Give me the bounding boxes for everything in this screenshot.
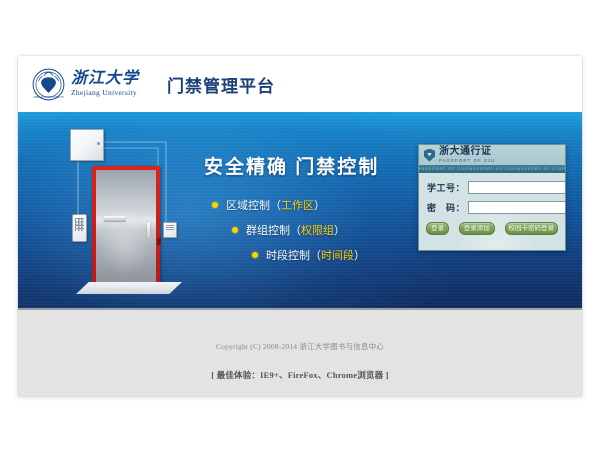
feature-item-area-control: 区域控制（工作区） bbox=[212, 197, 424, 213]
site-container: ZHEJIANG UNIVERSITY 浙江大学 Zhejiang Univer… bbox=[18, 56, 582, 396]
strip-text: PASSPORT OF ZJU bbox=[562, 167, 565, 171]
hero-banner: 安全精确 门禁控制 区域控制（工作区） 群组控制（权限组） 时段控制（时间段） bbox=[18, 112, 582, 308]
login-title-cn: 浙大通行证 bbox=[439, 147, 496, 157]
access-door-illustration bbox=[48, 124, 198, 304]
login-panel-header: 浙大通行证 PASSPORT OF ZJU bbox=[419, 145, 565, 165]
browser-support-text: [ 最佳体验：IE9+、FireFox、Chrome浏览器 ] bbox=[18, 369, 582, 381]
access-door-icon bbox=[92, 166, 160, 284]
zju-seal-icon: ZHEJIANG UNIVERSITY bbox=[32, 68, 65, 101]
password-row: 密 码： bbox=[427, 201, 557, 214]
username-row: 学工号： bbox=[427, 181, 557, 194]
page-title: 门禁管理平台 bbox=[167, 72, 275, 97]
brand-name: 浙江大学 Zhejiang University bbox=[71, 71, 139, 97]
door-closer-icon bbox=[104, 216, 126, 221]
feature-list: 区域控制（工作区） 群组控制（权限组） 时段控制（时间段） bbox=[204, 197, 424, 263]
strip-text: PASSPORT OF ZJU bbox=[515, 167, 563, 171]
campus-card-login-button[interactable]: 校园卡密码登录 bbox=[505, 222, 559, 235]
login-decor-strip: PASSPORT OF ZJU PASSPORT OF ZJU PASSPORT… bbox=[419, 165, 565, 173]
controller-box-icon bbox=[70, 129, 104, 161]
feature-text: 群组控制（ bbox=[246, 222, 301, 238]
login-panel[interactable]: 浙大通行证 PASSPORT OF ZJU PASSPORT OF ZJU PA… bbox=[418, 144, 566, 251]
site-footer: Copyright (C) 2008-2014 浙江大学图书与信息中心 [ 最佳… bbox=[18, 308, 582, 396]
svg-text:ZHEJIANG UNIVERSITY: ZHEJIANG UNIVERSITY bbox=[33, 96, 64, 99]
password-label: 密 码： bbox=[427, 201, 468, 214]
door-handle-icon bbox=[147, 222, 150, 239]
login-add-button[interactable]: 登录添加 bbox=[459, 222, 495, 235]
feature-item-group-control: 群组控制（权限组） bbox=[232, 222, 424, 238]
username-label: 学工号： bbox=[427, 181, 468, 194]
bullet-dot-icon bbox=[212, 202, 218, 208]
card-reader-icon bbox=[163, 222, 177, 238]
bullet-dot-icon bbox=[232, 227, 238, 233]
feature-highlight: 时间段 bbox=[321, 247, 354, 263]
banner-copy: 安全精确 门禁控制 区域控制（工作区） 群组控制（权限组） 时段控制（时间段） bbox=[204, 152, 424, 272]
feature-suffix: ） bbox=[314, 197, 325, 213]
login-title-en: PASSPORT OF ZJU bbox=[439, 159, 496, 163]
university-name-en: Zhejiang University bbox=[71, 89, 139, 97]
copyright-text: Copyright (C) 2008-2014 浙江大学图书与信息中心 bbox=[18, 341, 582, 352]
page-root: ZHEJIANG UNIVERSITY 浙江大学 Zhejiang Univer… bbox=[0, 0, 600, 450]
banner-headline: 安全精确 门禁控制 bbox=[204, 152, 424, 179]
username-input[interactable] bbox=[468, 181, 566, 194]
site-header: ZHEJIANG UNIVERSITY 浙江大学 Zhejiang Univer… bbox=[18, 56, 582, 112]
keypad-reader-icon bbox=[72, 214, 87, 242]
door-strike-icon bbox=[157, 238, 161, 245]
login-button-group: 登录 登录添加 校园卡密码登录 bbox=[419, 221, 565, 235]
feature-suffix: ） bbox=[334, 222, 345, 238]
password-input[interactable] bbox=[468, 201, 566, 214]
feature-highlight: 权限组 bbox=[301, 222, 334, 238]
bullet-dot-icon bbox=[252, 252, 258, 258]
login-button[interactable]: 登录 bbox=[426, 222, 449, 235]
feature-suffix: ） bbox=[354, 247, 365, 263]
feature-highlight: 工作区 bbox=[281, 197, 314, 213]
door-lock-indicator bbox=[145, 216, 149, 220]
login-form: 学工号： 密 码： bbox=[419, 173, 565, 214]
shield-icon bbox=[424, 149, 435, 162]
university-name-cn: 浙江大学 bbox=[71, 71, 139, 87]
brand-logo[interactable]: ZHEJIANG UNIVERSITY 浙江大学 Zhejiang Univer… bbox=[32, 68, 139, 101]
feature-text: 区域控制（ bbox=[226, 197, 281, 213]
door-leaf bbox=[96, 170, 156, 284]
feature-item-time-control: 时段控制（时间段） bbox=[252, 247, 424, 263]
feature-text: 时段控制（ bbox=[266, 247, 321, 263]
login-title-block: 浙大通行证 PASSPORT OF ZJU bbox=[439, 147, 496, 163]
strip-text: PASSPORT OF ZJU bbox=[419, 167, 467, 171]
strip-text: PASSPORT OF ZJU bbox=[467, 167, 515, 171]
floor-plate bbox=[76, 282, 182, 294]
